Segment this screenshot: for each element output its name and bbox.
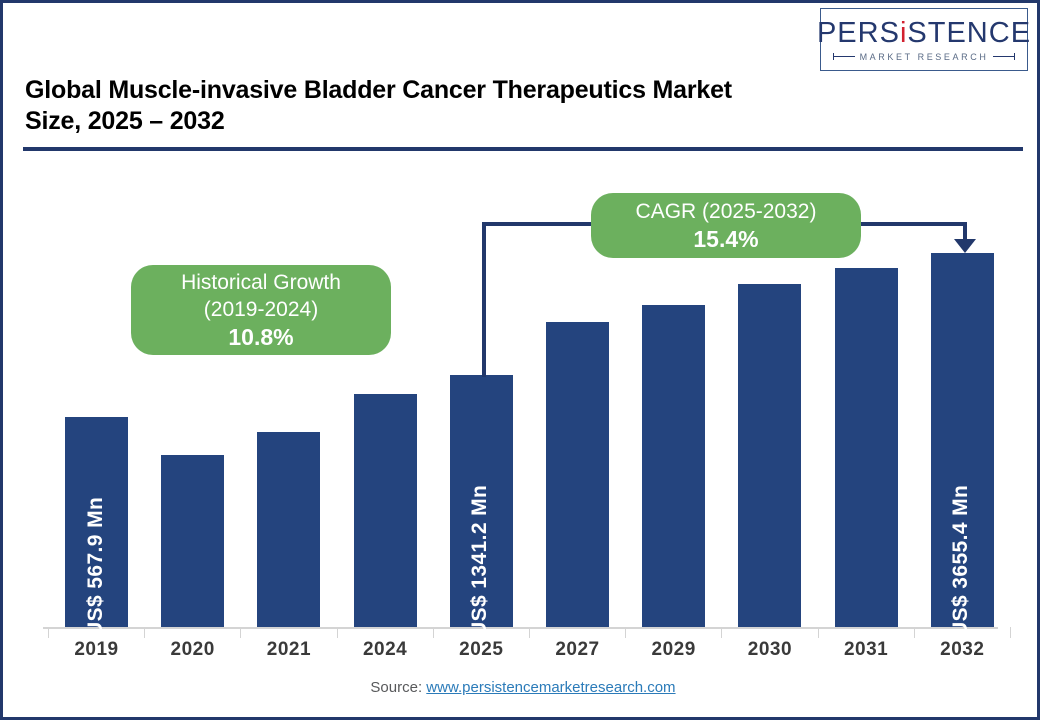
infographic-page: PERSiSTENCE MARKET RESEARCH Global Muscl… <box>0 0 1040 720</box>
x-axis-label-2029: 2029 <box>626 639 722 661</box>
x-axis-label-2027: 2027 <box>530 639 626 661</box>
source-link[interactable]: www.persistencemarketresearch.com <box>426 679 675 696</box>
source-line: Source: www.persistencemarketresearch.co… <box>3 679 1040 696</box>
bar-value-label-2032: US$ 3655.4 Mn <box>949 485 973 637</box>
x-tick-2020 <box>144 627 145 638</box>
bar-2027 <box>546 322 609 627</box>
x-tick-2031 <box>818 627 819 638</box>
bar-value-label-2019: US$ 567.9 Mn <box>84 497 108 637</box>
x-axis-label-2031: 2031 <box>818 639 914 661</box>
bar-2024 <box>354 394 417 627</box>
x-axis-label-2030: 2030 <box>722 639 818 661</box>
cagr-callout: CAGR (2025-2032) 15.4% <box>591 193 861 258</box>
x-tick-end <box>1010 627 1011 638</box>
historical-growth-callout: Historical Growth (2019-2024) 10.8% <box>131 265 391 355</box>
cagr-connector-vertical-left <box>482 222 486 377</box>
x-axis-label-2020: 2020 <box>145 639 241 661</box>
x-tick-2025 <box>433 627 434 638</box>
x-axis-label-2025: 2025 <box>433 639 529 661</box>
x-tick-2021 <box>240 627 241 638</box>
x-tick-2019 <box>48 627 49 638</box>
x-tick-2024 <box>337 627 338 638</box>
cagr-value: 15.4% <box>693 225 758 253</box>
bar-2029 <box>642 305 705 627</box>
historical-growth-line2: (2019-2024) <box>204 296 318 323</box>
cagr-connector-horizontal-right <box>855 222 967 226</box>
historical-growth-value: 10.8% <box>228 323 293 351</box>
x-axis-label-2032: 2032 <box>914 639 1010 661</box>
cagr-arrow-icon <box>954 239 976 253</box>
x-tick-2032 <box>914 627 915 638</box>
cagr-connector-horizontal-left <box>482 222 597 226</box>
bar-2030 <box>738 284 801 627</box>
historical-growth-line1: Historical Growth <box>181 269 341 296</box>
x-axis-label-2021: 2021 <box>241 639 337 661</box>
bar-2020 <box>161 455 224 627</box>
x-tick-2029 <box>625 627 626 638</box>
x-axis-line <box>43 627 998 629</box>
x-axis-label-2019: 2019 <box>49 639 145 661</box>
bar-2021 <box>257 432 320 627</box>
source-label: Source: <box>370 679 422 696</box>
bar-chart: US$ 567.9 MnUS$ 1341.2 MnUS$ 3655.4 Mn 2… <box>3 3 1040 723</box>
cagr-line1: CAGR (2025-2032) <box>636 198 817 225</box>
x-axis-label-2024: 2024 <box>337 639 433 661</box>
bar-value-label-2025: US$ 1341.2 Mn <box>468 485 492 637</box>
x-tick-2030 <box>721 627 722 638</box>
x-tick-2027 <box>529 627 530 638</box>
bar-2031 <box>835 268 898 627</box>
